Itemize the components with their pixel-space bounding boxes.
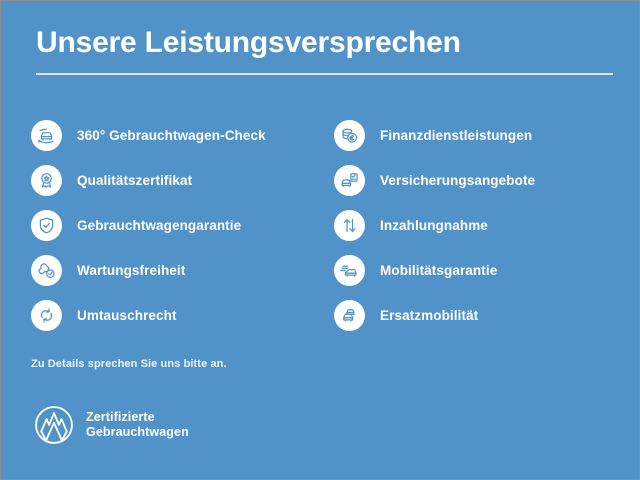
brand-lockup: Zertifizierte Gebrauchtwagen [33,404,189,446]
trade-in-arrows-icon [334,210,365,241]
title-divider [36,73,613,75]
brand-text: Zertifizierte Gebrauchtwagen [86,410,189,440]
brand-line-2: Gebrauchtwagen [86,425,189,440]
benefit-item: Mobilitätsgarantie [334,248,634,293]
brand-line-1: Zertifizierte [86,410,189,425]
promo-poster: Unsere Leistungsversprechen 360° Gebrauc… [0,0,640,480]
benefit-label: Umtauschrecht [77,308,177,323]
benefit-item: Qualitätszertifikat [31,158,331,203]
benefit-item: Finanzdienstleistungen [334,113,634,158]
benefit-label: Mobilitätsgarantie [380,263,497,278]
benefit-item: Umtauschrecht [31,293,331,338]
benefit-label: Inzahlungnahme [380,218,488,233]
car-insurance-icon [334,165,365,196]
benefits-column-left: 360° Gebrauchtwagen-Check Qualitätszerti… [31,113,331,338]
benefit-label: Wartungsfreiheit [77,263,185,278]
benefit-item: Inzahlungnahme [334,203,634,248]
car-360-check-icon [31,120,62,151]
benefit-item: Wartungsfreiheit [31,248,331,293]
benefit-label: 360° Gebrauchtwagen-Check [77,128,266,143]
benefits-columns: 360° Gebrauchtwagen-Check Qualitätszerti… [1,113,640,338]
shield-check-icon [31,210,62,241]
benefit-label: Qualitätszertifikat [77,173,192,188]
car-mobility-icon [334,255,365,286]
benefit-label: Ersatzmobilität [380,308,478,323]
benefit-item: Ersatzmobilität [334,293,634,338]
benefit-label: Finanzdienstleistungen [380,128,532,143]
benefit-label: Versicherungsangebote [380,173,535,188]
benefits-column-right: Finanzdienstleistungen Versicherungsange… [334,113,634,338]
replacement-cars-icon [334,300,365,331]
coins-euro-icon [334,120,365,151]
details-note: Zu Details sprechen Sie uns bitte an. [31,358,227,370]
benefit-item: Gebrauchtwagengarantie [31,203,331,248]
benefit-item: Versicherungsangebote [334,158,634,203]
benefit-item: 360° Gebrauchtwagen-Check [31,113,331,158]
page-title: Unsere Leistungsversprechen [36,26,461,60]
wrench-check-icon [31,255,62,286]
exchange-arrows-icon [31,300,62,331]
quality-seal-icon [31,165,62,196]
benefit-label: Gebrauchtwagengarantie [77,218,241,233]
vw-logo-icon [33,404,75,446]
